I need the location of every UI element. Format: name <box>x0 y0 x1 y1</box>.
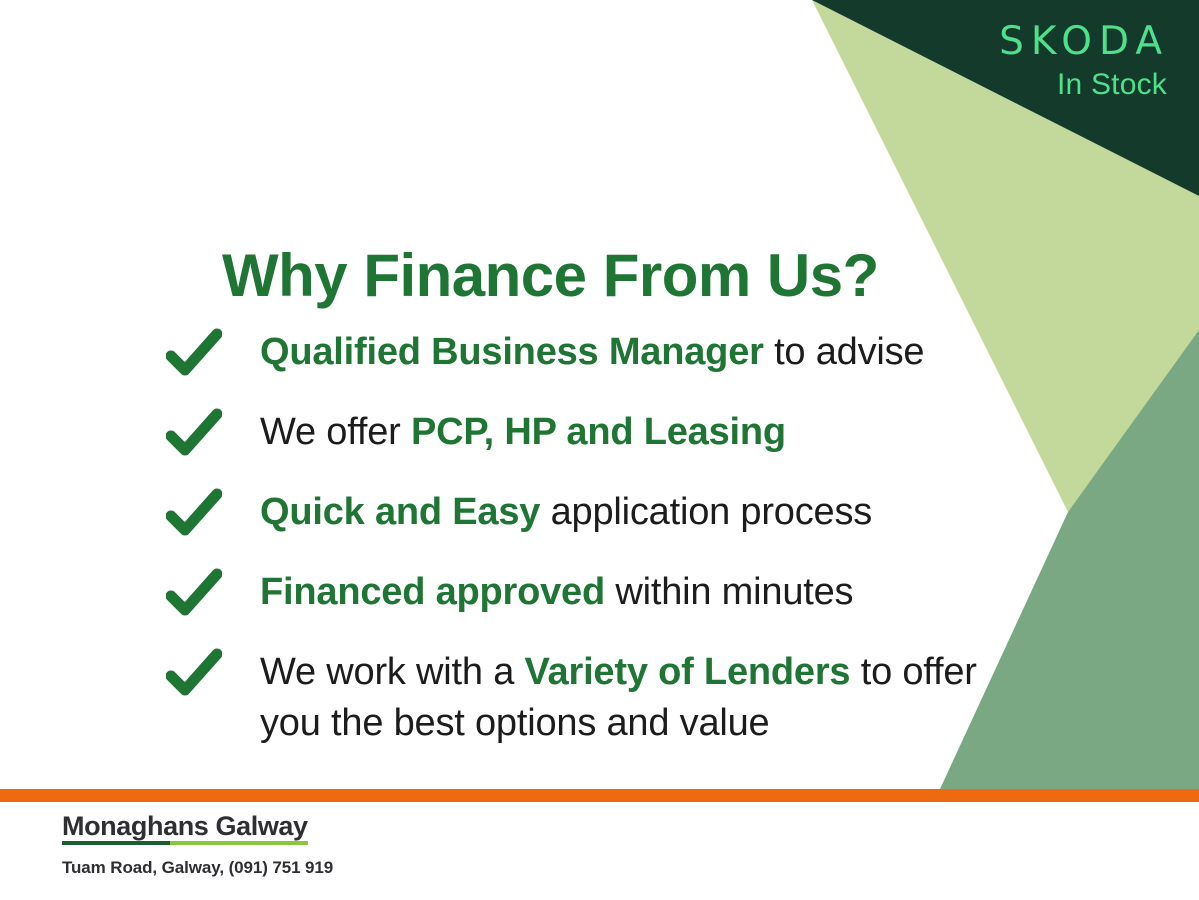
benefit-item: We offer PCP, HP and Leasing <box>166 405 996 459</box>
benefit-plain: We work with a <box>260 651 525 693</box>
benefit-plain: to advise <box>764 331 925 373</box>
check-icon <box>166 327 222 379</box>
benefit-text: Financed approved within minutes <box>260 565 853 618</box>
check-icon <box>166 407 222 459</box>
dealer-name-underline <box>62 841 308 845</box>
benefit-highlight: Qualified Business Manager <box>260 331 764 373</box>
check-icon <box>166 567 222 619</box>
dealer-name: Monaghans Galway <box>62 812 308 842</box>
dealer-name-wrap: Monaghans Galway <box>62 812 308 842</box>
benefit-text: We offer PCP, HP and Leasing <box>260 405 786 458</box>
benefit-item: Financed approved within minutes <box>166 565 996 619</box>
benefit-plain: We offer <box>260 411 411 453</box>
page-title: Why Finance From Us? <box>222 244 879 307</box>
in-stock-label: In Stock <box>999 70 1167 100</box>
benefit-text: Qualified Business Manager to advise <box>260 325 924 378</box>
accent-divider <box>0 789 1199 802</box>
skoda-wordmark: SKODA <box>999 22 1169 61</box>
check-icon <box>166 487 222 539</box>
benefit-plain: within minutes <box>605 571 853 613</box>
benefit-text: Quick and Easy application process <box>260 485 872 538</box>
benefit-highlight: Variety of Lenders <box>525 651 851 693</box>
benefit-item: We work with a Variety of Lenders to off… <box>166 645 996 749</box>
benefit-plain: application process <box>540 491 872 533</box>
benefits-list: Qualified Business Manager to adviseWe o… <box>166 325 996 749</box>
dealer-address: Tuam Road, Galway, (091) 751 919 <box>62 858 333 878</box>
check-icon <box>166 647 222 699</box>
underline-segment-dark <box>62 841 170 845</box>
benefit-item: Quick and Easy application process <box>166 485 996 539</box>
brand-block: SKODA In Stock <box>999 22 1169 100</box>
benefit-highlight: Quick and Easy <box>260 491 540 533</box>
footer: Monaghans Galway Tuam Road, Galway, (091… <box>62 812 333 878</box>
benefit-highlight: PCP, HP and Leasing <box>411 411 786 453</box>
benefit-highlight: Financed approved <box>260 571 605 613</box>
underline-segment-light <box>170 841 308 845</box>
benefit-text: We work with a Variety of Lenders to off… <box>260 645 996 749</box>
benefit-item: Qualified Business Manager to advise <box>166 325 996 379</box>
poster-canvas: SKODA In Stock Why Finance From Us? Qual… <box>0 0 1199 900</box>
